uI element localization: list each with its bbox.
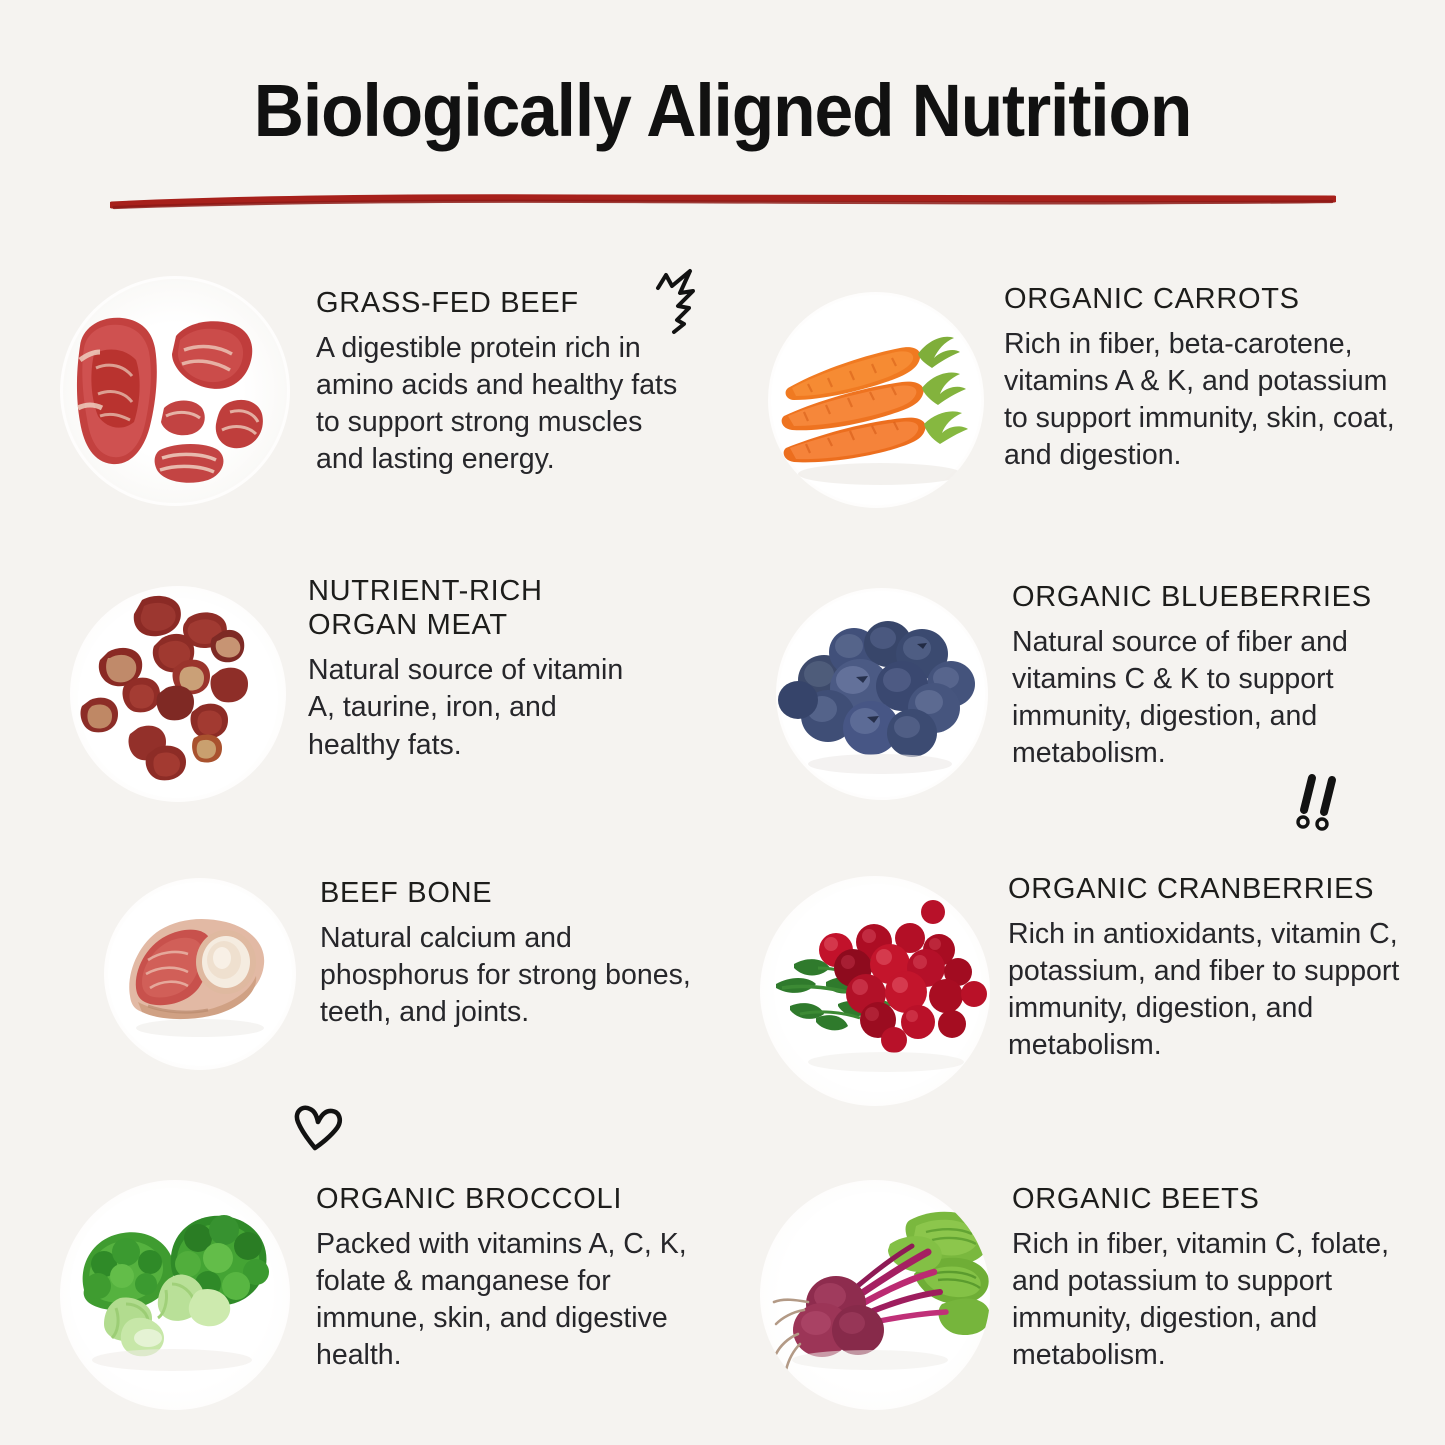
item-title: ORGANIC BLUEBERRIES <box>1012 580 1423 614</box>
item-title: ORGANIC BEETS <box>1012 1182 1423 1216</box>
item-title: ORGANIC CARROTS <box>1004 282 1423 316</box>
item-nutrient-rich-organ-meat: NUTRIENT-RICH ORGAN MEAT Natural source … <box>58 568 718 858</box>
item-title: ORGANIC BROCCOLI <box>316 1182 718 1216</box>
cranberries-photo <box>760 876 990 1106</box>
blueberries-photo <box>776 588 988 800</box>
red-divider-rule <box>110 192 1336 214</box>
beef-marrow-bone-photo <box>104 878 296 1070</box>
header: Biologically Aligned Nutrition <box>0 0 1445 214</box>
carrots-photo <box>768 292 984 508</box>
organ-meat-cubes-photo <box>70 586 286 802</box>
item-title: GRASS-FED BEEF <box>316 286 718 320</box>
infographic-page: Biologically Aligned Nutrition <box>0 0 1445 1445</box>
page-title: Biologically Aligned Nutrition <box>43 74 1401 148</box>
item-description: Packed with vitamins A, C, K, folate & m… <box>316 1226 716 1374</box>
beef-steak-and-cubes-photo <box>60 276 290 506</box>
item-grass-fed-beef: GRASS-FED BEEF A digestible protein rich… <box>58 272 718 568</box>
item-description: Natural source of vitamin A, taurine, ir… <box>308 652 628 763</box>
item-organic-blueberries: ORGANIC BLUEBERRIES Natural source of fi… <box>758 568 1423 858</box>
item-beef-bone: BEEF BONE Natural calcium and phosphorus… <box>58 858 718 1158</box>
item-description: Rich in fiber, vitamin C, folate, and po… <box>1012 1226 1423 1374</box>
item-organic-cranberries: ORGANIC CRANBERRIES Rich in antioxidants… <box>758 858 1423 1158</box>
item-title: ORGANIC CRANBERRIES <box>1008 872 1423 906</box>
broccoli-florets-photo <box>60 1180 290 1410</box>
item-title: NUTRIENT-RICH ORGAN MEAT <box>308 574 598 642</box>
item-description: Natural calcium and phosphorus for stron… <box>320 920 700 1031</box>
item-description: A digestible protein rich in amino acids… <box>316 330 696 478</box>
nutrition-items-grid: GRASS-FED BEEF A digestible protein rich… <box>0 272 1445 1408</box>
item-organic-carrots: ORGANIC CARROTS Rich in fiber, beta-caro… <box>758 272 1423 568</box>
item-description: Rich in antioxidants, vitamin C, potassi… <box>1008 916 1423 1064</box>
beets-with-greens-photo <box>760 1180 990 1410</box>
item-title: BEEF BONE <box>320 876 718 910</box>
item-organic-beets: ORGANIC BEETS Rich in fiber, vitamin C, … <box>758 1158 1423 1408</box>
item-description: Rich in fiber, beta-carotene, vitamins A… <box>1004 326 1419 474</box>
item-description: Natural source of fiber and vitamins C &… <box>1012 624 1423 772</box>
item-organic-broccoli: ORGANIC BROCCOLI Packed with vitamins A,… <box>58 1158 718 1408</box>
